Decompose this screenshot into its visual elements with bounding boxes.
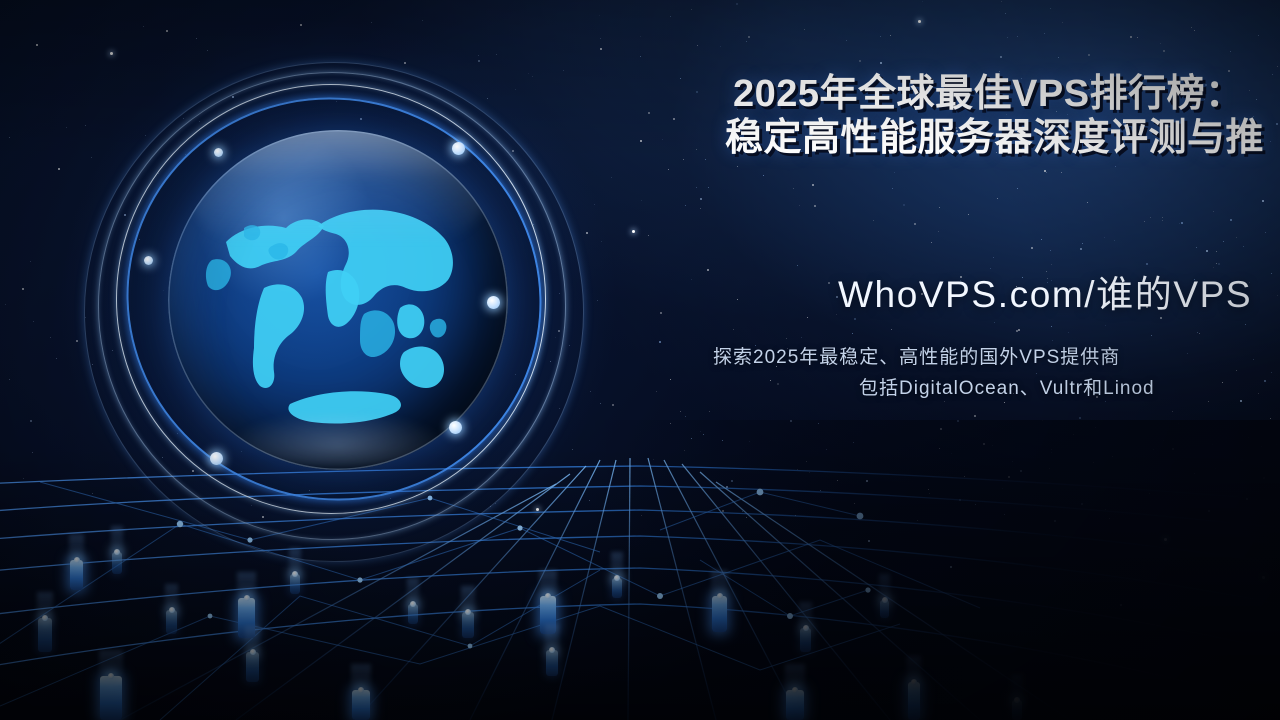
hero-banner: 2025年全球最佳VPS排行榜： 稳定高性能服务器深度评测与推 WhoVPS.c… (0, 0, 1280, 720)
vignette-overlay (0, 0, 1280, 720)
